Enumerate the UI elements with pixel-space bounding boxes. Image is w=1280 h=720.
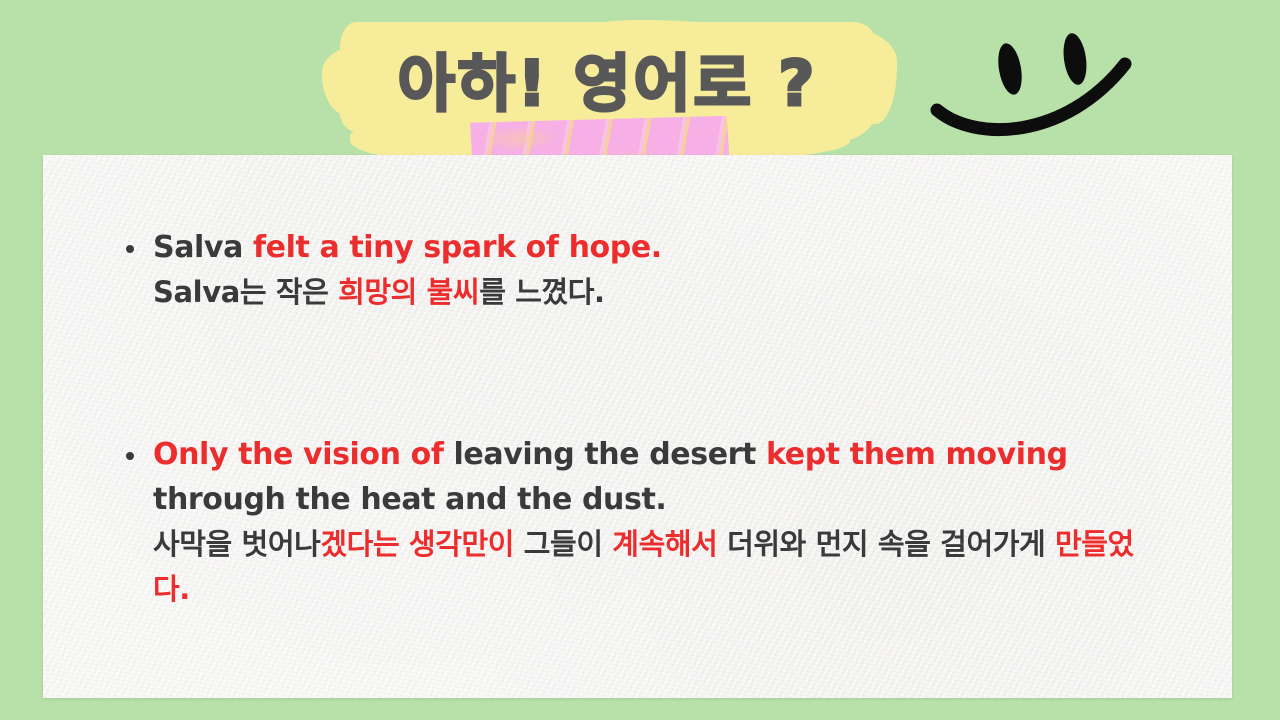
text-segment-highlight: felt a tiny spark of hope. [253,230,662,265]
bullet-1-korean-line: Salva는 작은 희망의 불씨를 느꼈다. [153,270,1163,315]
bullet-item-2: Only the vision of leaving the desert ke… [123,432,1163,612]
smiley-icon [915,14,1185,144]
smiley-face-doodle [915,14,1185,144]
text-segment: 를 느꼈다. [479,275,604,309]
text-segment: 그들이 [514,527,612,561]
bullet-1-english-line: Salva felt a tiny spark of hope. [153,225,1163,270]
bullet-2-english-line: Only the vision of leaving the desert ke… [153,432,1163,522]
text-segment: 사막을 벗어나 [153,527,320,561]
bullet-item-1: Salva felt a tiny spark of hope. Salva는 … [123,225,1163,315]
text-segment-highlight: 계속해서 [612,527,717,561]
text-segment-highlight: 희망의 불씨 [338,275,479,309]
text-segment-highlight: 겠다는 생각만이 [320,527,514,561]
text-segment-highlight: Only the vision of [153,437,454,472]
text-segment: Salva [153,230,253,265]
text-segment: through the heat and the dust. [153,482,666,517]
text-segment-highlight: kept them moving [766,437,1068,472]
text-segment: Salva는 작은 [153,275,338,309]
paper-card: Salva felt a tiny spark of hope. Salva는 … [43,155,1232,698]
text-segment: 더위와 먼지 속을 걸어가게 [717,527,1055,561]
bullet-content: Salva felt a tiny spark of hope. Salva는 … [123,225,1163,612]
bullet-2-korean-line: 사막을 벗어나겠다는 생각만이 그들이 계속해서 더위와 먼지 속을 걸어가게 … [153,522,1163,612]
slide-canvas: 아하! 영어로 ? Salva felt a tiny spark of hop… [0,0,1280,720]
text-segment: leaving the desert [454,437,766,472]
